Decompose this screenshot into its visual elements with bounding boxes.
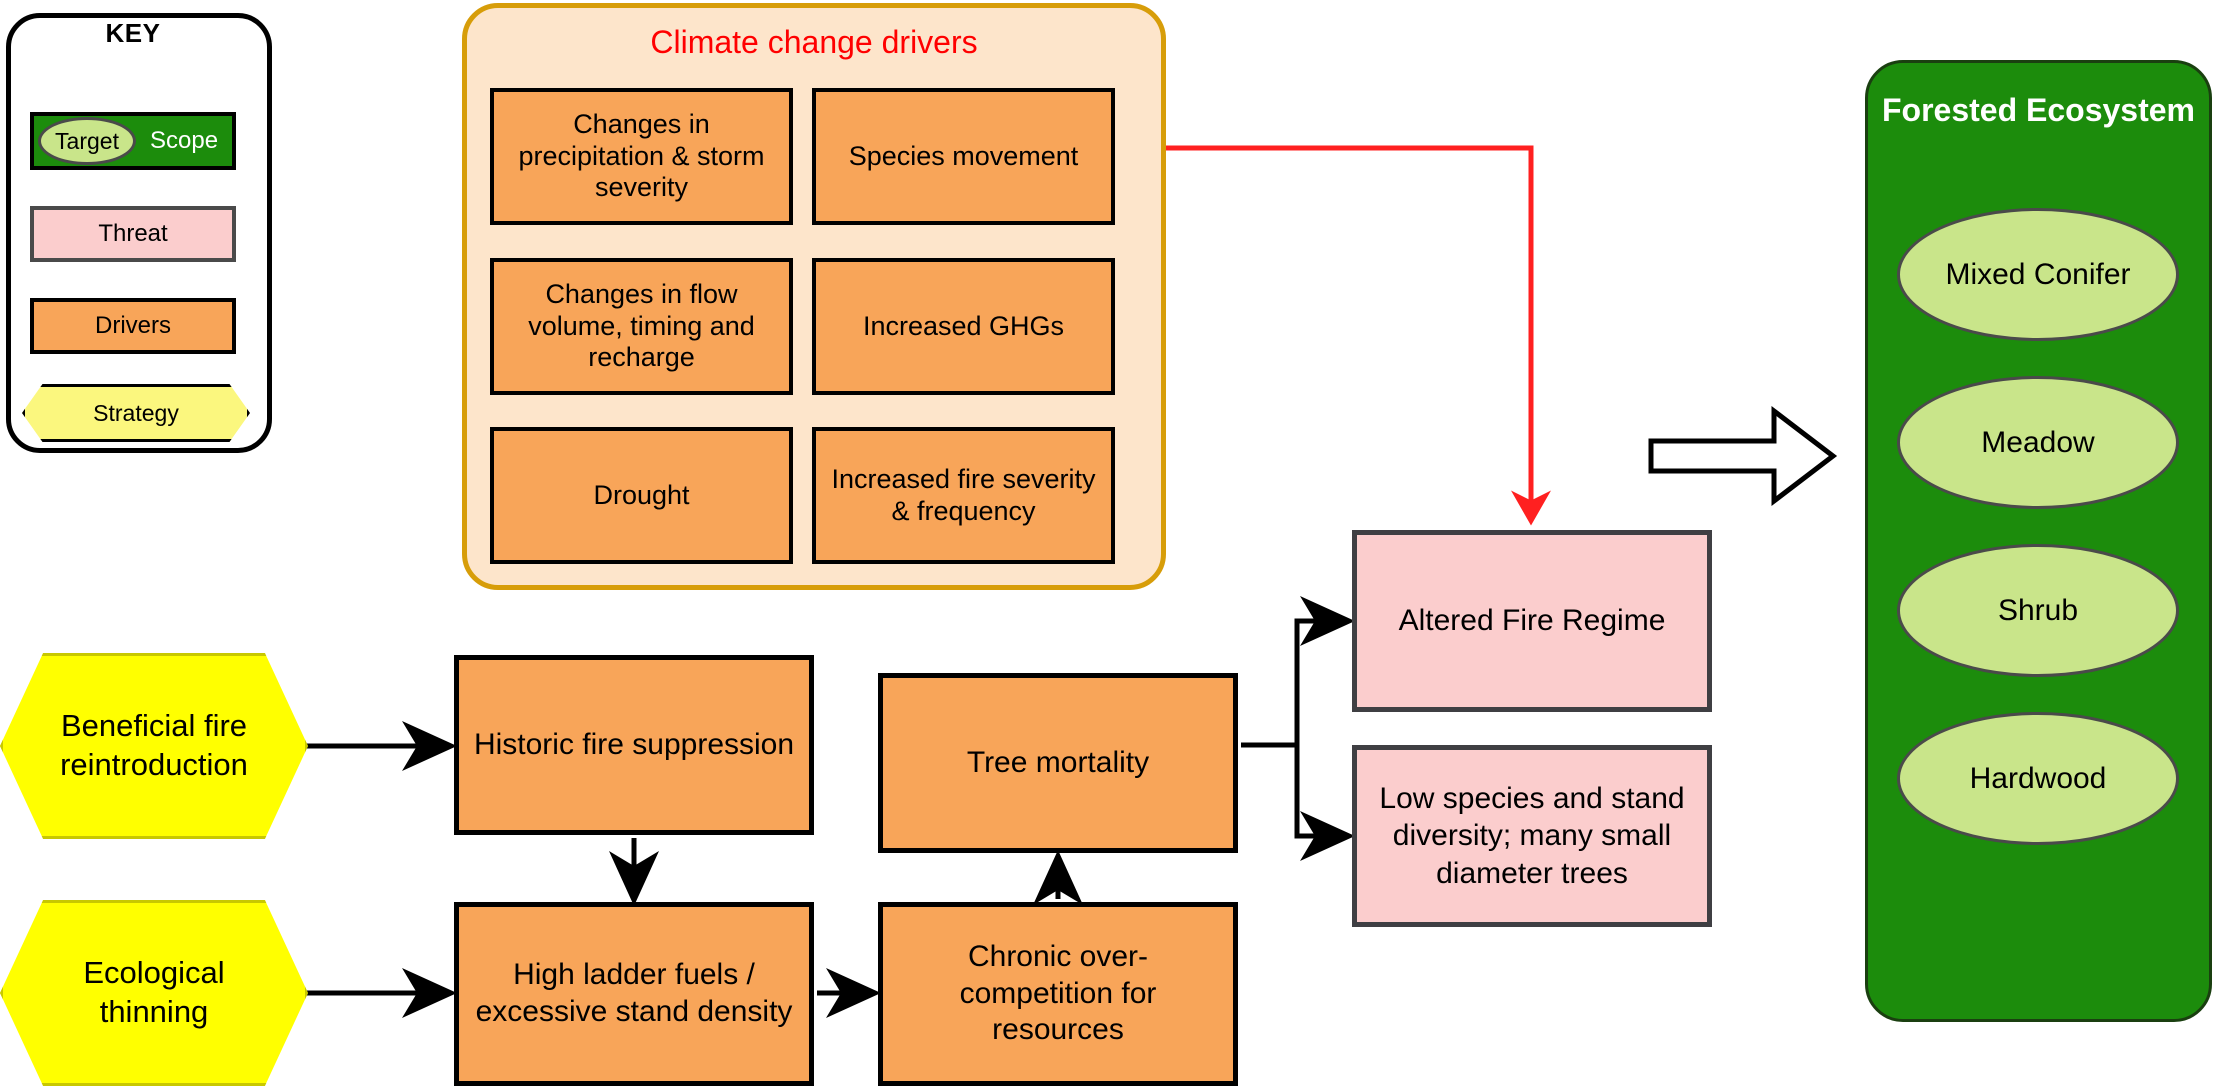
strategy-beneficial-fire-reintroduction[interactable]: Beneficial fire reintroduction bbox=[0, 653, 308, 839]
connector-tree-mortality-branch-lower bbox=[1297, 745, 1345, 836]
key-title: KEY bbox=[0, 18, 266, 49]
driver-box-fire-severity[interactable]: Increased fire severity & frequency bbox=[812, 427, 1115, 564]
driver-box-precipitation[interactable]: Changes in precipitation & storm severit… bbox=[490, 88, 793, 225]
key-threat-swatch: Threat bbox=[30, 206, 236, 262]
key-target-swatch: Target bbox=[38, 117, 136, 165]
key-scope-swatch: Target Scope bbox=[30, 112, 236, 170]
threat-box-low-species-diversity[interactable]: Low species and stand diversity; many sm… bbox=[1352, 745, 1712, 927]
threat-box-altered-fire-regime[interactable]: Altered Fire Regime bbox=[1352, 530, 1712, 712]
driver-box-historic-fire-suppression[interactable]: Historic fire suppression bbox=[454, 655, 814, 835]
key-scope-label: Scope bbox=[150, 127, 218, 155]
key-strategy-swatch: Strategy bbox=[22, 384, 244, 436]
driver-box-increased-ghgs[interactable]: Increased GHGs bbox=[812, 258, 1115, 395]
connector-tree-mortality-branch bbox=[1241, 621, 1345, 745]
big-arrow-to-forested-ecosystem bbox=[1651, 411, 1833, 501]
scope-forested-ecosystem bbox=[1865, 60, 2212, 1022]
key-strategy-label: Strategy bbox=[22, 384, 250, 442]
target-shrub[interactable]: Shrub bbox=[1897, 544, 2179, 677]
key-drivers-swatch: Drivers bbox=[30, 298, 236, 354]
driver-box-high-ladder-fuels[interactable]: High ladder fuels / excessive stand dens… bbox=[454, 902, 814, 1086]
target-meadow[interactable]: Meadow bbox=[1897, 376, 2179, 509]
scope-forested-ecosystem-title: Forested Ecosystem bbox=[1865, 90, 2212, 130]
conceptual-model-diagram: KEY Target Scope Threat Drivers Strategy… bbox=[0, 0, 2217, 1086]
climate-change-drivers-title: Climate change drivers bbox=[462, 24, 1166, 61]
strategy-ecological-thinning[interactable]: Ecological thinning bbox=[0, 900, 308, 1086]
target-hardwood[interactable]: Hardwood bbox=[1897, 712, 2179, 845]
driver-box-tree-mortality[interactable]: Tree mortality bbox=[878, 673, 1238, 853]
driver-box-drought[interactable]: Drought bbox=[490, 427, 793, 564]
target-mixed-conifer[interactable]: Mixed Conifer bbox=[1897, 208, 2179, 341]
arrow-climate-drivers-to-altered-fire-regime bbox=[1166, 148, 1531, 518]
driver-box-species-movement[interactable]: Species movement bbox=[812, 88, 1115, 225]
driver-box-chronic-over-competition[interactable]: Chronic over-competition for resources bbox=[878, 902, 1238, 1086]
driver-box-flow-volume[interactable]: Changes in flow volume, timing and recha… bbox=[490, 258, 793, 395]
